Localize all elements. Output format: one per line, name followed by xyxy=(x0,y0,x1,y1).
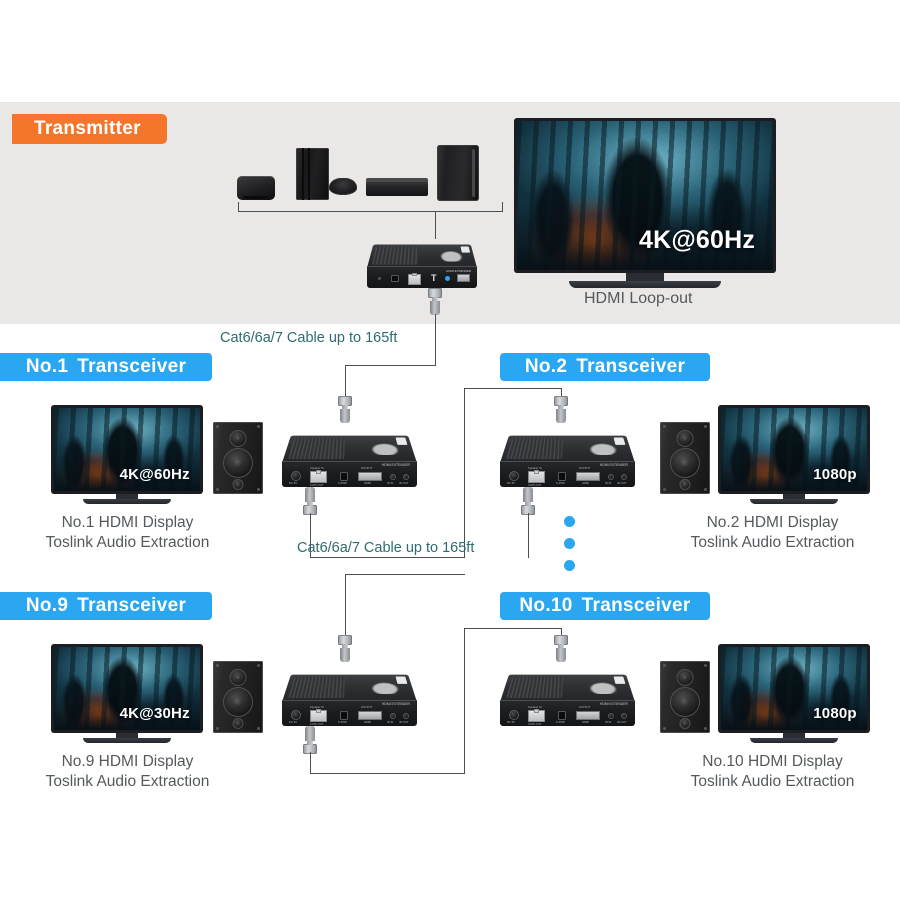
wire-no10-top xyxy=(464,628,562,629)
label-dc-5v-no2: DC 5V xyxy=(507,482,515,485)
dc-jack-icon xyxy=(291,471,301,481)
caption-no10-line2: Toslink Audio Extraction xyxy=(645,772,900,792)
banner-no2-number: No.2 xyxy=(525,356,567,378)
banner-no10: No.10 Transceiver xyxy=(500,592,710,620)
label-dc-5v: DC 5V xyxy=(289,482,297,485)
source-bus-drop-left xyxy=(238,202,239,212)
ir-in-icon-no9 xyxy=(390,713,396,719)
tv-no1-resolution: 4K@60Hz xyxy=(120,466,190,483)
transmitter-banner: Transmitter xyxy=(12,114,167,144)
device-no2: HDMI EXTENDER DC 5V Speaker To CAT6 OUT … xyxy=(500,425,635,487)
tv-no10: 1080p xyxy=(718,644,870,745)
speaker-no10 xyxy=(660,661,710,733)
rj45-plug-no2-bottom xyxy=(521,487,535,515)
banner-no1: No.1 Transceiver xyxy=(0,353,212,381)
device-no9: HDMI EXTENDER DC 5V Speaker To CAT6 OUT … xyxy=(282,664,417,726)
speaker-no2 xyxy=(660,422,710,494)
dc-jack-icon-no9 xyxy=(291,710,301,720)
rj45-icon-no10 xyxy=(528,710,545,722)
banner-no1-number: No.1 xyxy=(26,356,68,378)
wire-no1-to-no2 xyxy=(310,557,465,558)
label-ir-out-no10: IR OUT xyxy=(617,721,626,724)
label-output-no9: OUTPUT xyxy=(361,706,372,709)
device-no10: HDMI EXTENDER DC 5V Speaker To CAT6 OUT … xyxy=(500,664,635,726)
ir-out-icon-no1 xyxy=(403,474,409,480)
tv-screen: 4K@60Hz xyxy=(517,121,773,270)
reset-pinhole-icon xyxy=(378,277,381,280)
ir-in-icon-no2 xyxy=(608,474,614,480)
cable-label-middle: Cat6/6a/7 Cable up to 165ft xyxy=(297,540,474,556)
label-dc-5v-no9: DC 5V xyxy=(289,721,297,724)
label-hdmi-no9: HDMI xyxy=(364,721,371,724)
banner-no9: No.9 Transceiver xyxy=(0,592,212,620)
ir-icon xyxy=(457,274,470,282)
speaker-no1 xyxy=(213,422,263,494)
wire-no9-bottom-down xyxy=(310,752,311,774)
label-ir-in: IR IN xyxy=(387,482,393,485)
diagram-canvas: Transmitter HDMI EXTENDER xyxy=(0,0,900,900)
status-led-icon xyxy=(445,276,450,281)
device-no1: HDMI EXTENDER DC 5V Speaker To CAT6 OUT … xyxy=(282,425,417,487)
tv-no1: 4K@60Hz xyxy=(51,405,203,506)
ir-in-icon-no1 xyxy=(390,474,396,480)
wire-no2-bottom xyxy=(528,513,529,558)
label-ir-in-no10: IR IN xyxy=(605,721,611,724)
port-icon-no10 xyxy=(680,718,691,729)
spdif-icon-no2 xyxy=(558,472,566,481)
label-output-no2: OUTPUT xyxy=(579,467,590,470)
label-hdmi-no10: HDMI xyxy=(582,721,589,724)
tv-no2-resolution: 1080p xyxy=(813,466,857,483)
loop-out-caption: HDMI Loop-out xyxy=(584,290,693,308)
banner-no1-label: Transceiver xyxy=(77,356,186,378)
rj45-plug-transmitter xyxy=(428,288,442,316)
wire-tx-to-no1 xyxy=(345,365,436,366)
spdif-icon-no10 xyxy=(558,711,566,720)
wire-no1-up xyxy=(345,365,346,398)
wire-tx-down xyxy=(435,314,436,366)
dc-jack-icon-no10 xyxy=(509,710,519,720)
tweeter-icon-no2 xyxy=(677,430,694,447)
ir-out-icon-no10 xyxy=(621,713,627,719)
label-ir-out: IR OUT xyxy=(399,482,408,485)
caption-no10: No.10 HDMI Display Toslink Audio Extract… xyxy=(645,752,900,792)
transmitter-banner-label: Transmitter xyxy=(34,118,141,140)
banner-no10-label: Transceiver xyxy=(582,595,691,617)
tweeter-icon-no9 xyxy=(230,669,247,686)
wire-no9-drop xyxy=(345,574,346,636)
rj45-icon-no2 xyxy=(528,471,545,483)
label-hdmi-no2: HDMI xyxy=(582,482,589,485)
woofer-icon-no2 xyxy=(670,448,700,478)
blu-ray-player-icon xyxy=(366,181,428,196)
wire-to-no9 xyxy=(345,574,465,575)
tweeter-icon-no10 xyxy=(677,669,694,686)
label-spdif: S-PDIF xyxy=(338,482,347,485)
label-dc-5v-no10: DC 5V xyxy=(507,721,515,724)
transmitter-device: HDMI EXTENDER T xyxy=(367,236,477,288)
rj45-plug-no10-top xyxy=(554,635,568,663)
label-ir-out-no9: IR OUT xyxy=(399,721,408,724)
banner-no2: No.2 Transceiver xyxy=(500,353,710,381)
cable-label-top: Cat6/6a/7 Cable up to 165ft xyxy=(220,330,397,346)
label-ir-out-no2: IR OUT xyxy=(617,482,626,485)
rj45-icon xyxy=(408,274,421,285)
rj45-plug-no9-top xyxy=(338,635,352,663)
spdif-icon-no9 xyxy=(340,711,348,720)
spdif-icon xyxy=(391,275,399,282)
banner-no9-number: No.9 xyxy=(26,595,68,617)
ir-in-icon-no10 xyxy=(608,713,614,719)
caption-no9: No.9 HDMI Display Toslink Audio Extracti… xyxy=(0,752,255,792)
woofer-icon-no9 xyxy=(223,687,253,717)
blu-ray-player-top xyxy=(366,178,428,182)
label-spdif-no10: S-PDIF xyxy=(556,721,565,724)
speaker-no9 xyxy=(213,661,263,733)
tv-no9: 4K@30Hz xyxy=(51,644,203,745)
wire-no2-riser xyxy=(464,388,465,558)
rj45-icon-no9 xyxy=(310,710,327,722)
rj45-icon-no1 xyxy=(310,471,327,483)
ellipsis-dot-2 xyxy=(564,538,575,549)
banner-no9-label: Transceiver xyxy=(77,595,186,617)
wire-no2-top xyxy=(464,388,562,389)
caption-no1: No.1 HDMI Display Toslink Audio Extracti… xyxy=(0,513,255,553)
hdmi-icon-no1 xyxy=(358,472,382,481)
woofer-icon xyxy=(223,448,253,478)
device-no9-face-title: HDMI EXTENDER xyxy=(382,702,410,706)
banner-no2-label: Transceiver xyxy=(576,356,685,378)
ir-out-icon-no2 xyxy=(621,474,627,480)
label-output-no10: OUTPUT xyxy=(579,706,590,709)
desktop-pc-icon xyxy=(437,145,479,201)
caption-no1-line2: Toslink Audio Extraction xyxy=(0,533,255,553)
source-bus-wire xyxy=(238,211,503,212)
hdmi-icon: T xyxy=(431,274,439,283)
spdif-icon-no1 xyxy=(340,472,348,481)
transmitter-feed-wire xyxy=(435,211,436,239)
transmitter-face-title: HDMI EXTENDER xyxy=(446,269,471,273)
label-ir-in-no2: IR IN xyxy=(605,482,611,485)
game-controller-icon xyxy=(329,178,357,195)
caption-no2-line2: Toslink Audio Extraction xyxy=(645,533,900,553)
device-no10-face-title: HDMI EXTENDER xyxy=(600,702,628,706)
dc-jack-icon-no2 xyxy=(509,471,519,481)
label-ir-in-no9: IR IN xyxy=(387,721,393,724)
rj45-plug-no2-top xyxy=(554,396,568,424)
caption-no9-line1: No.9 HDMI Display xyxy=(0,752,255,772)
loop-out-tv: 4K@60Hz xyxy=(514,118,776,293)
caption-no2: No.2 HDMI Display Toslink Audio Extracti… xyxy=(645,513,900,553)
caption-no10-line1: No.10 HDMI Display xyxy=(645,752,900,772)
label-spdif-no9: S-PDIF xyxy=(338,721,347,724)
ellipsis-dot-1 xyxy=(564,516,575,527)
tv-no9-resolution: 4K@30Hz xyxy=(120,705,190,722)
wire-no10-riser xyxy=(464,628,465,774)
hdmi-icon-no9 xyxy=(358,711,382,720)
game-console-icon xyxy=(296,148,329,200)
rj45-plug-no9-bottom xyxy=(303,726,317,754)
port-icon-no9 xyxy=(233,718,244,729)
tweeter-icon xyxy=(230,430,247,447)
rj45-plug-no1-bottom xyxy=(303,487,317,515)
label-cat6-out-no10: CAT6 OUT xyxy=(528,723,541,726)
label-hdmi: HDMI xyxy=(364,482,371,485)
caption-no1-line1: No.1 HDMI Display xyxy=(0,513,255,533)
tv-resolution-label: 4K@60Hz xyxy=(639,226,755,255)
caption-no9-line2: Toslink Audio Extraction xyxy=(0,772,255,792)
hdmi-icon-no10 xyxy=(576,711,600,720)
port-icon xyxy=(233,479,244,490)
tv-no2: 1080p xyxy=(718,405,870,506)
wire-no9-to-no10 xyxy=(310,773,465,774)
label-output: OUTPUT xyxy=(361,467,372,470)
device-no2-face-title: HDMI EXTENDER xyxy=(600,463,628,467)
hdmi-icon-no2 xyxy=(576,472,600,481)
rj45-plug-no1-top xyxy=(338,396,352,424)
media-box-base xyxy=(243,196,269,199)
device-no1-face-title: HDMI EXTENDER xyxy=(382,463,410,467)
woofer-icon-no10 xyxy=(670,687,700,717)
port-icon-no2 xyxy=(680,479,691,490)
ir-out-icon-no9 xyxy=(403,713,409,719)
caption-no2-line1: No.2 HDMI Display xyxy=(645,513,900,533)
banner-no10-number: No.10 xyxy=(519,595,572,617)
source-bus-drop-right xyxy=(502,202,503,212)
label-spdif-no2: S-PDIF xyxy=(556,482,565,485)
ellipsis-dot-3 xyxy=(564,560,575,571)
tv-no10-resolution: 1080p xyxy=(813,705,857,722)
